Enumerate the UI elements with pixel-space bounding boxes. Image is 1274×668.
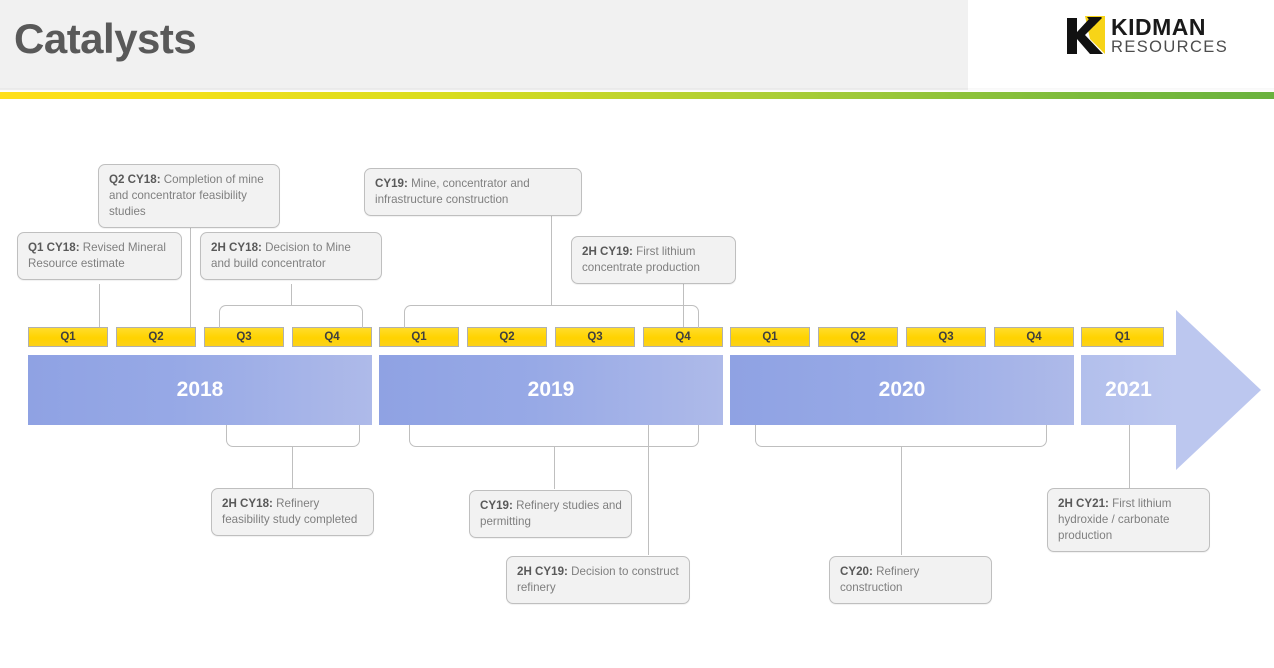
callout-2h-cy18-refinery-prefix: 2H CY18: xyxy=(222,497,273,510)
connector-cy20-bracket xyxy=(755,425,1047,447)
connector-2h-cy18-stem xyxy=(291,284,292,305)
connector-2h-cy18-bracket xyxy=(219,305,363,328)
callout-q1-cy18: Q1 CY18: Revised Mineral Resource estima… xyxy=(17,232,182,280)
year-block-2018: 2018 xyxy=(28,355,372,425)
connector-cy19-ref-bracket xyxy=(409,425,699,447)
connector-cy20-stem xyxy=(901,447,902,555)
connector-q1-cy18 xyxy=(99,284,100,327)
connector-q2-cy18 xyxy=(190,216,191,327)
callout-2h-cy19-decision: 2H CY19: Decision to construct refinery xyxy=(506,556,690,604)
callout-2h-cy18: 2H CY18: Decision to Mine and build conc… xyxy=(200,232,382,280)
callout-cy19-construction: CY19: Mine, concentrator and infrastruct… xyxy=(364,168,582,216)
year-block-2020: 2020 xyxy=(730,355,1074,425)
callout-cy19-construction-prefix: CY19: xyxy=(375,177,408,190)
connector-cy19-bracket xyxy=(404,305,699,328)
callout-q2-cy18-prefix: Q2 CY18: xyxy=(109,173,161,186)
callout-cy19-refinery: CY19: Refinery studies and permitting xyxy=(469,490,632,538)
quarter-2018-q4: Q4 xyxy=(292,327,372,347)
connector-2h-cy19 xyxy=(683,284,684,327)
brand-logo: KIDMAN RESOURCES xyxy=(1063,14,1213,62)
callout-cy19-refinery-prefix: CY19: xyxy=(480,499,513,512)
quarter-2019-q2: Q2 xyxy=(467,327,547,347)
connector-cy19-ref-stem xyxy=(554,447,555,489)
callout-q2-cy18: Q2 CY18: Completion of mine and concentr… xyxy=(98,164,280,228)
quarter-2019-q1: Q1 xyxy=(379,327,459,347)
header-accent-rule xyxy=(0,92,1274,99)
connector-2h-cy18-ref-stem xyxy=(292,447,293,488)
kidman-k-pick-icon xyxy=(1063,14,1109,58)
quarter-2018-q1: Q1 xyxy=(28,327,108,347)
connector-2h-cy19-dec xyxy=(648,425,649,555)
callout-q1-cy18-prefix: Q1 CY18: xyxy=(28,241,80,254)
callout-2h-cy19-decision-prefix: 2H CY19: xyxy=(517,565,568,578)
connector-2h-cy18-ref-bracket xyxy=(226,425,360,447)
quarter-2018-q2: Q2 xyxy=(116,327,196,347)
year-block-2019: 2019 xyxy=(379,355,723,425)
year-block-2021: 2021 xyxy=(1081,355,1176,425)
quarter-2020-q3: Q3 xyxy=(906,327,986,347)
slide-canvas: Catalysts KIDMAN RESOURCES 2018 2019 202… xyxy=(0,0,1274,668)
quarter-2018-q3: Q3 xyxy=(204,327,284,347)
quarter-2019-q3: Q3 xyxy=(555,327,635,347)
callout-2h-cy21-hydroxide-prefix: 2H CY21: xyxy=(1058,497,1109,510)
callout-2h-cy21-hydroxide: 2H CY21: First lithium hydroxide / carbo… xyxy=(1047,488,1210,552)
page-title: Catalysts xyxy=(14,14,196,64)
callout-2h-cy19-concentrate: 2H CY19: First lithium concentrate produ… xyxy=(571,236,736,284)
logo-line-resources: RESOURCES xyxy=(1111,38,1228,56)
quarter-2019-q4: Q4 xyxy=(643,327,723,347)
timeline-arrowhead xyxy=(1176,310,1261,470)
connector-cy19-stem xyxy=(551,216,552,305)
connector-2h-cy21 xyxy=(1129,425,1130,489)
logo-line-kidman: KIDMAN xyxy=(1111,16,1228,38)
callout-2h-cy18-refinery: 2H CY18: Refinery feasibility study comp… xyxy=(211,488,374,536)
callout-cy20-refinery: CY20: Refinery construction xyxy=(829,556,992,604)
callout-cy20-refinery-prefix: CY20: xyxy=(840,565,873,578)
quarter-2020-q2: Q2 xyxy=(818,327,898,347)
callout-2h-cy18-prefix: 2H CY18: xyxy=(211,241,262,254)
quarter-2020-q4: Q4 xyxy=(994,327,1074,347)
callout-2h-cy19-concentrate-prefix: 2H CY19: xyxy=(582,245,633,258)
logo-wordmark: KIDMAN RESOURCES xyxy=(1111,16,1228,56)
quarter-2021-q1: Q1 xyxy=(1081,327,1164,347)
quarter-2020-q1: Q1 xyxy=(730,327,810,347)
